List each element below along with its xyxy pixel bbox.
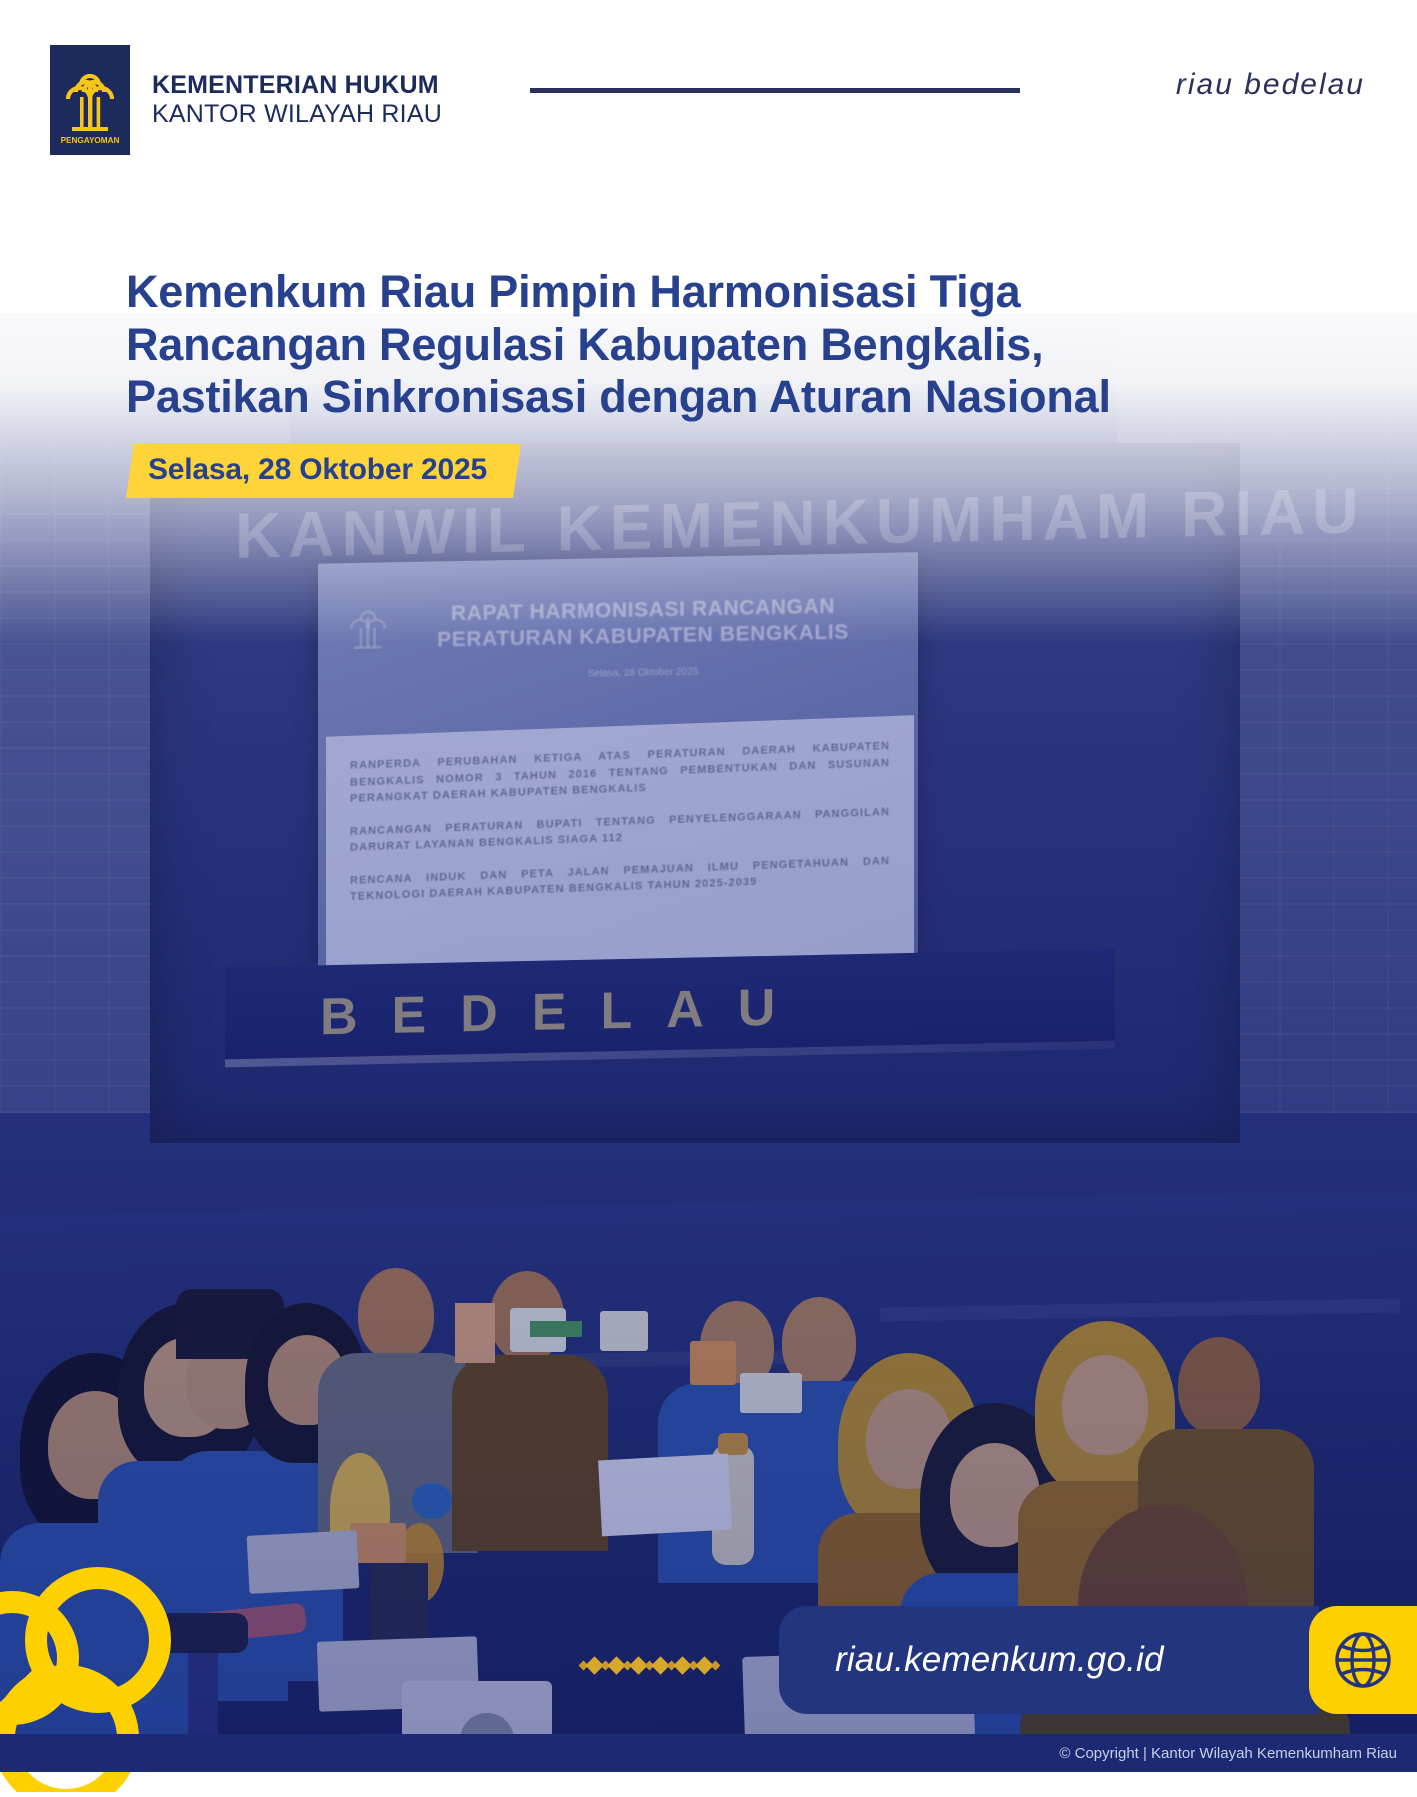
website-url-pill[interactable]: riau.kemenkum.go.id	[779, 1606, 1319, 1714]
copyright-text: © Copyright | Kantor Wilayah Kemenkumham…	[1059, 1745, 1397, 1762]
attendee-face	[358, 1268, 434, 1360]
vase-base	[370, 1563, 428, 1643]
slide-agenda-item: RENCANA INDUK DAN PETA JALAN PEMAJUAN IL…	[350, 853, 890, 906]
snack-box	[690, 1341, 736, 1385]
bottle-cap	[718, 1433, 748, 1455]
website-url-text: riau.kemenkum.go.id	[835, 1640, 1164, 1680]
laptop	[247, 1530, 360, 1594]
songket-diamond-ornament	[580, 1659, 719, 1672]
flower-vase	[412, 1483, 452, 1519]
microphone-base	[158, 1613, 248, 1653]
attendee-face	[1062, 1355, 1148, 1455]
svg-text:PENGAYOMAN: PENGAYOMAN	[61, 136, 120, 145]
pengayoman-banyan-tree-logo-icon: PENGAYOMAN	[50, 45, 130, 155]
article-date-badge: Selasa, 28 Oktober 2025	[126, 444, 521, 498]
bedelau-wall-band: BEDELAU	[225, 949, 1115, 1068]
slide-ministry-logo-icon	[342, 600, 394, 663]
page-title: Kemenkum Riau Pimpin Harmonisasi Tiga Ra…	[126, 266, 1186, 424]
brand-text: KEMENTERIAN HUKUM KANTOR WILAYAH RIAU	[152, 71, 442, 130]
bedelau-wall-text: BEDELAU	[320, 977, 809, 1047]
copyright-bar: © Copyright | Kantor Wilayah Kemenkumham…	[0, 1734, 1417, 1772]
projection-screen: RAPAT HARMONISASI RANCANGAN PERATURAN KA…	[318, 552, 918, 979]
snack-box	[740, 1373, 802, 1413]
snack-pack-stripe	[530, 1321, 582, 1337]
slide-agenda-item: RANPERDA PERUBAHAN KETIGA ATAS PERATURAN…	[350, 738, 890, 807]
brand-lockup: PENGAYOMAN KEMENTERIAN HUKUM KANTOR WILA…	[50, 45, 442, 155]
event-photo: KANWIL KEMENKUMHAM RIAU RAPAT HARMONISAS…	[0, 313, 1417, 1772]
header-divider-rule	[530, 88, 1020, 93]
slide-title: RAPAT HARMONISASI RANCANGAN PERATURAN KA…	[388, 593, 898, 654]
snack-box	[600, 1311, 648, 1351]
globe-icon[interactable]	[1309, 1606, 1417, 1714]
tissue-box	[455, 1303, 495, 1363]
regional-office-name: KANTOR WILAYAH RIAU	[152, 100, 442, 130]
attendee-uniform	[452, 1355, 608, 1551]
ornament-diamond	[711, 1661, 721, 1671]
slide-agenda-list: RANPERDA PERUBAHAN KETIGA ATAS PERATURAN…	[326, 715, 914, 977]
slide-agenda-item: RANCANGAN PERATURAN BUPATI TENTANG PENYE…	[350, 804, 890, 857]
article-title-block: Kemenkum Riau Pimpin Harmonisasi Tiga Ra…	[126, 266, 1186, 498]
ministry-name: KEMENTERIAN HUKUM	[152, 71, 442, 101]
slide-date: Selasa, 28 Oktober 2025	[388, 663, 898, 684]
paper-document	[598, 1454, 732, 1537]
slide-title-line2: PERATURAN KABUPATEN BENGKALIS	[437, 620, 849, 651]
attendee-face	[1178, 1337, 1260, 1435]
snack-box	[350, 1523, 406, 1563]
header-tagline: riau bedelau	[1176, 68, 1365, 102]
